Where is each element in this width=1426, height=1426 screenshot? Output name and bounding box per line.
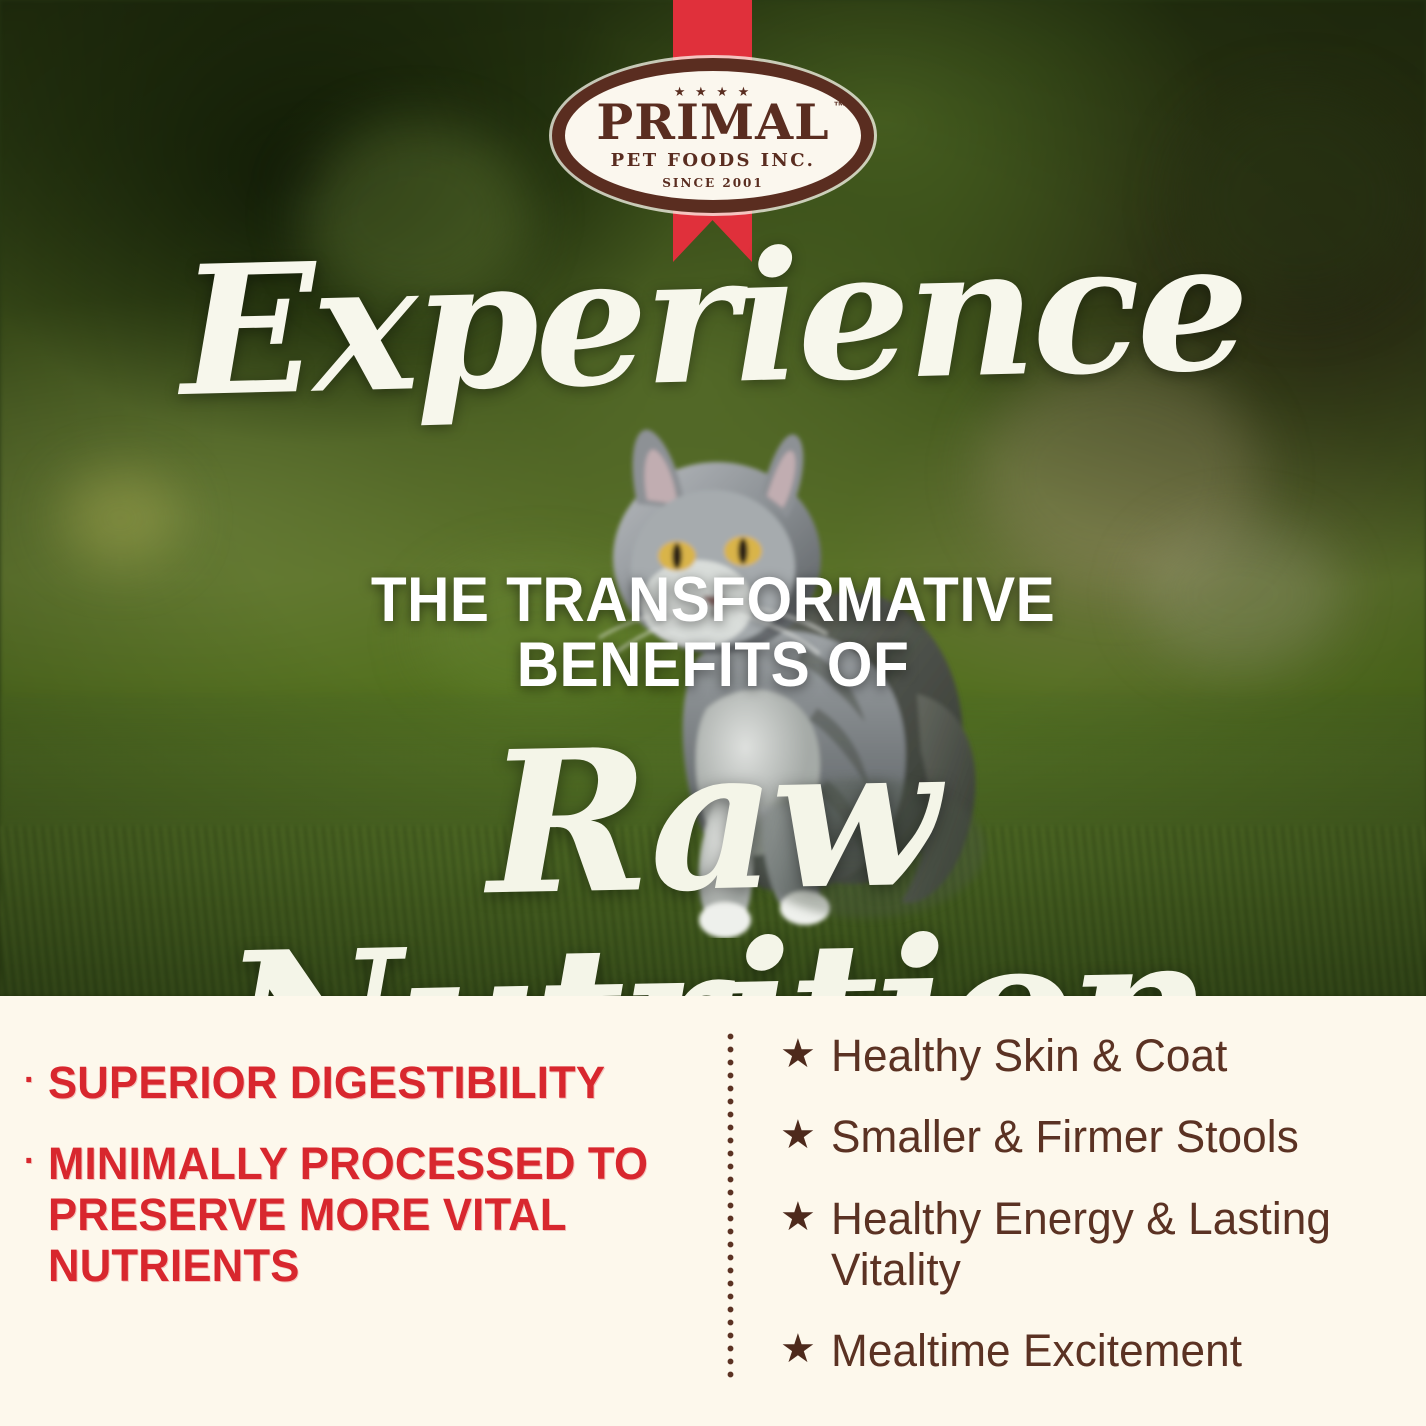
subhead-line-1: THE TRANSFORMATIVE <box>50 568 1376 633</box>
list-item-label: Mealtime Excitement <box>831 1325 1242 1376</box>
star-icon: ★ <box>780 1325 816 1373</box>
dotted-divider <box>720 1030 740 1380</box>
list-item-label: SUPERIOR DIGESTIBILITY <box>48 1058 605 1109</box>
promo-poster: ★ ★ ★ ★ PRIMAL ™ PET FOODS INC. SINCE 20… <box>0 0 1426 1426</box>
list-item-label: Healthy Energy & Lasting Vitality <box>831 1193 1396 1296</box>
bullet-dot-icon: · <box>24 1058 36 1104</box>
headline-script-raw-nutrition: Raw Nutrition <box>0 708 1426 996</box>
star-icon: ★ <box>780 1111 816 1159</box>
list-item-label: MINIMALLY PROCESSED TO PRESERVE MORE VIT… <box>48 1139 667 1292</box>
list-item: ★ Healthy Energy & Lasting Vitality <box>780 1193 1408 1296</box>
headline-script-experience: Experience <box>0 213 1426 426</box>
primal-logo: ★ ★ ★ ★ PRIMAL ™ PET FOODS INC. SINCE 20… <box>552 58 874 213</box>
logo-brand-text: PRIMAL <box>596 93 829 151</box>
logo-tagline: PET FOODS INC. <box>611 150 816 171</box>
star-icon: ★ <box>780 1193 816 1241</box>
list-item: ★ Mealtime Excitement <box>780 1325 1408 1376</box>
star-icon: ★ <box>780 1030 816 1078</box>
benefits-right-column: ★ Healthy Skin & Coat ★ Smaller & Firmer… <box>740 996 1426 1426</box>
hero-photo: ★ ★ ★ ★ PRIMAL ™ PET FOODS INC. SINCE 20… <box>0 0 1426 996</box>
subhead-line-2: BENEFITS OF <box>50 633 1376 698</box>
bullet-dot-icon: · <box>24 1139 36 1185</box>
list-item: ★ Smaller & Firmer Stools <box>780 1111 1408 1162</box>
benefits-left-column: · SUPERIOR DIGESTIBILITY · MINIMALLY PRO… <box>0 996 720 1426</box>
list-item-label: Healthy Skin & Coat <box>831 1030 1228 1081</box>
list-item: · SUPERIOR DIGESTIBILITY <box>24 1058 686 1109</box>
list-item-label: Smaller & Firmer Stools <box>831 1111 1299 1162</box>
logo-brand-name: PRIMAL ™ <box>596 99 829 146</box>
logo-since-text: SINCE 2001 <box>662 176 764 190</box>
list-item: · MINIMALLY PROCESSED TO PRESERVE MORE V… <box>24 1139 686 1292</box>
list-item: ★ Healthy Skin & Coat <box>780 1030 1408 1081</box>
benefits-panel: · SUPERIOR DIGESTIBILITY · MINIMALLY PRO… <box>0 996 1426 1426</box>
headline-subhead: THE TRANSFORMATIVE BENEFITS OF <box>50 568 1376 698</box>
trademark-symbol: ™ <box>834 101 846 113</box>
